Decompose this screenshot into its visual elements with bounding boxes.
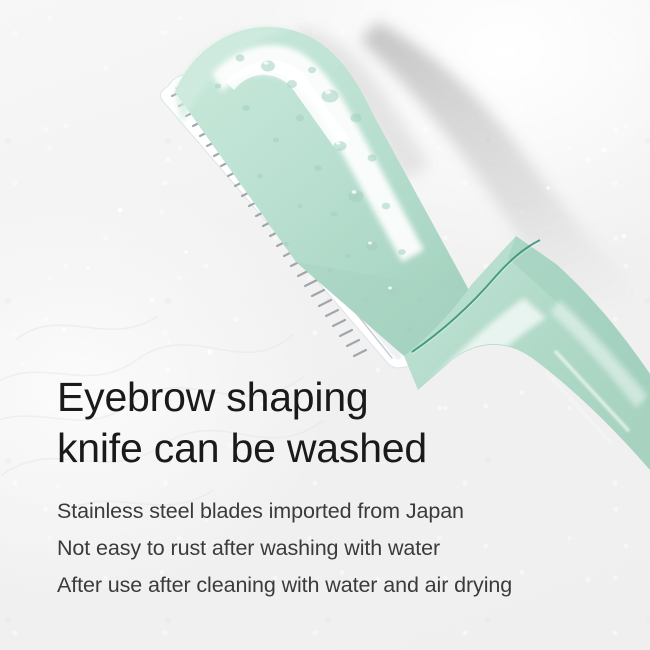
product-marketing-image: Eyebrow shaping knife can be washed Stai…: [0, 0, 650, 650]
list-item: Not easy to rust after washing with wate…: [57, 533, 597, 564]
copy-block: Eyebrow shaping knife can be washed Stai…: [57, 372, 597, 607]
page-title: Eyebrow shaping knife can be washed: [57, 372, 597, 474]
feature-list: Stainless steel blades imported from Jap…: [57, 496, 597, 601]
list-item: After use after cleaning with water and …: [57, 570, 597, 601]
list-item: Stainless steel blades imported from Jap…: [57, 496, 597, 527]
